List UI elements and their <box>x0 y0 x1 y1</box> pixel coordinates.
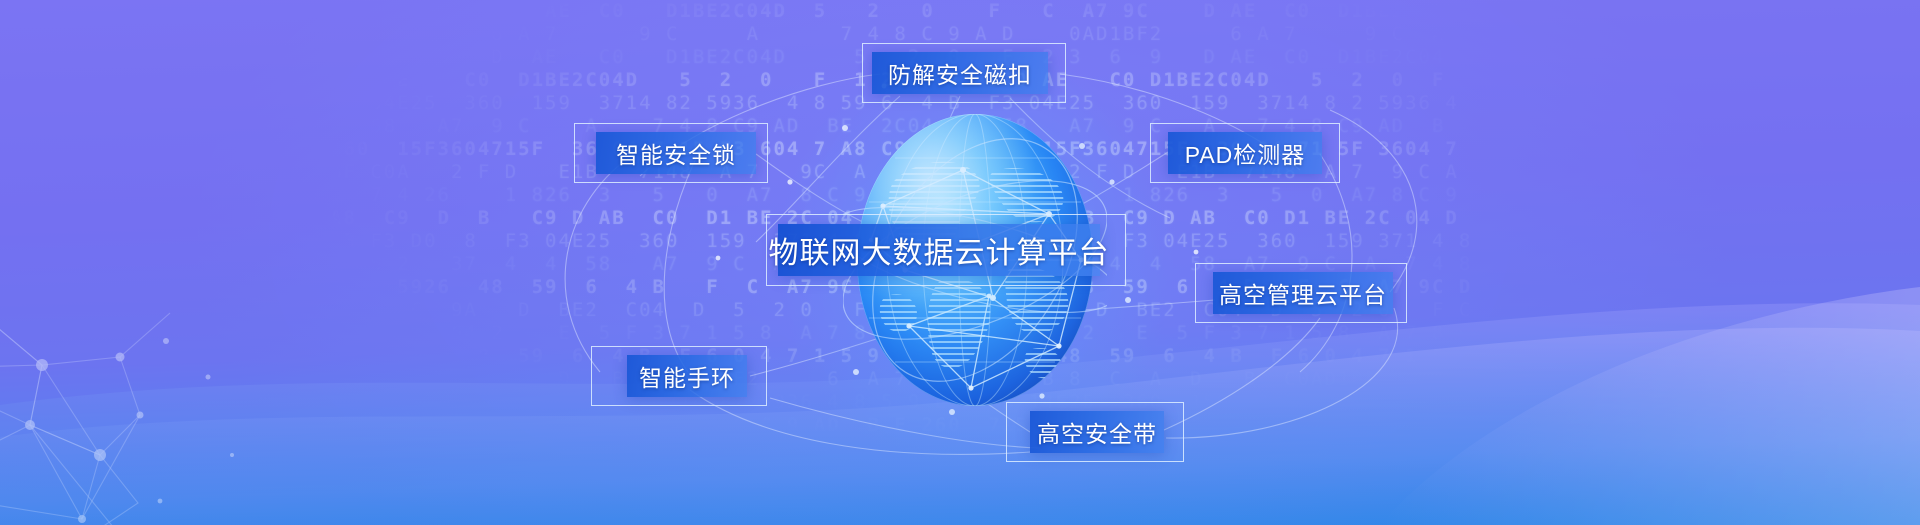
center-label-text: 物联网大数据云计算平台 <box>769 228 1110 272</box>
node-label-anquandai[interactable]: 高空安全带 <box>1030 411 1164 453</box>
node-label-text: 智能手环 <box>639 359 735 393</box>
node-label-text: 智能安全锁 <box>616 136 736 170</box>
node-label-text: 高空安全带 <box>1037 415 1157 449</box>
node-label-shouhuan[interactable]: 智能手环 <box>627 355 747 397</box>
node-label-fangjie[interactable]: 防解安全磁扣 <box>872 52 1048 94</box>
center-label-platform[interactable]: 物联网大数据云计算平台 <box>778 224 1100 276</box>
node-label-pad[interactable]: PAD检测器 <box>1168 132 1322 174</box>
node-label-text: 防解安全磁扣 <box>888 56 1032 90</box>
node-label-gaokong-yun[interactable]: 高空管理云平台 <box>1213 272 1393 314</box>
node-label-text: 高空管理云平台 <box>1219 276 1387 310</box>
iot-platform-banner: C A7 9C D AE C0 D1BE2C04D 5 2 0 F C A7 9… <box>0 0 1920 525</box>
node-label-zhineng-suo[interactable]: 智能安全锁 <box>596 132 756 174</box>
node-label-text: PAD检测器 <box>1185 136 1306 170</box>
